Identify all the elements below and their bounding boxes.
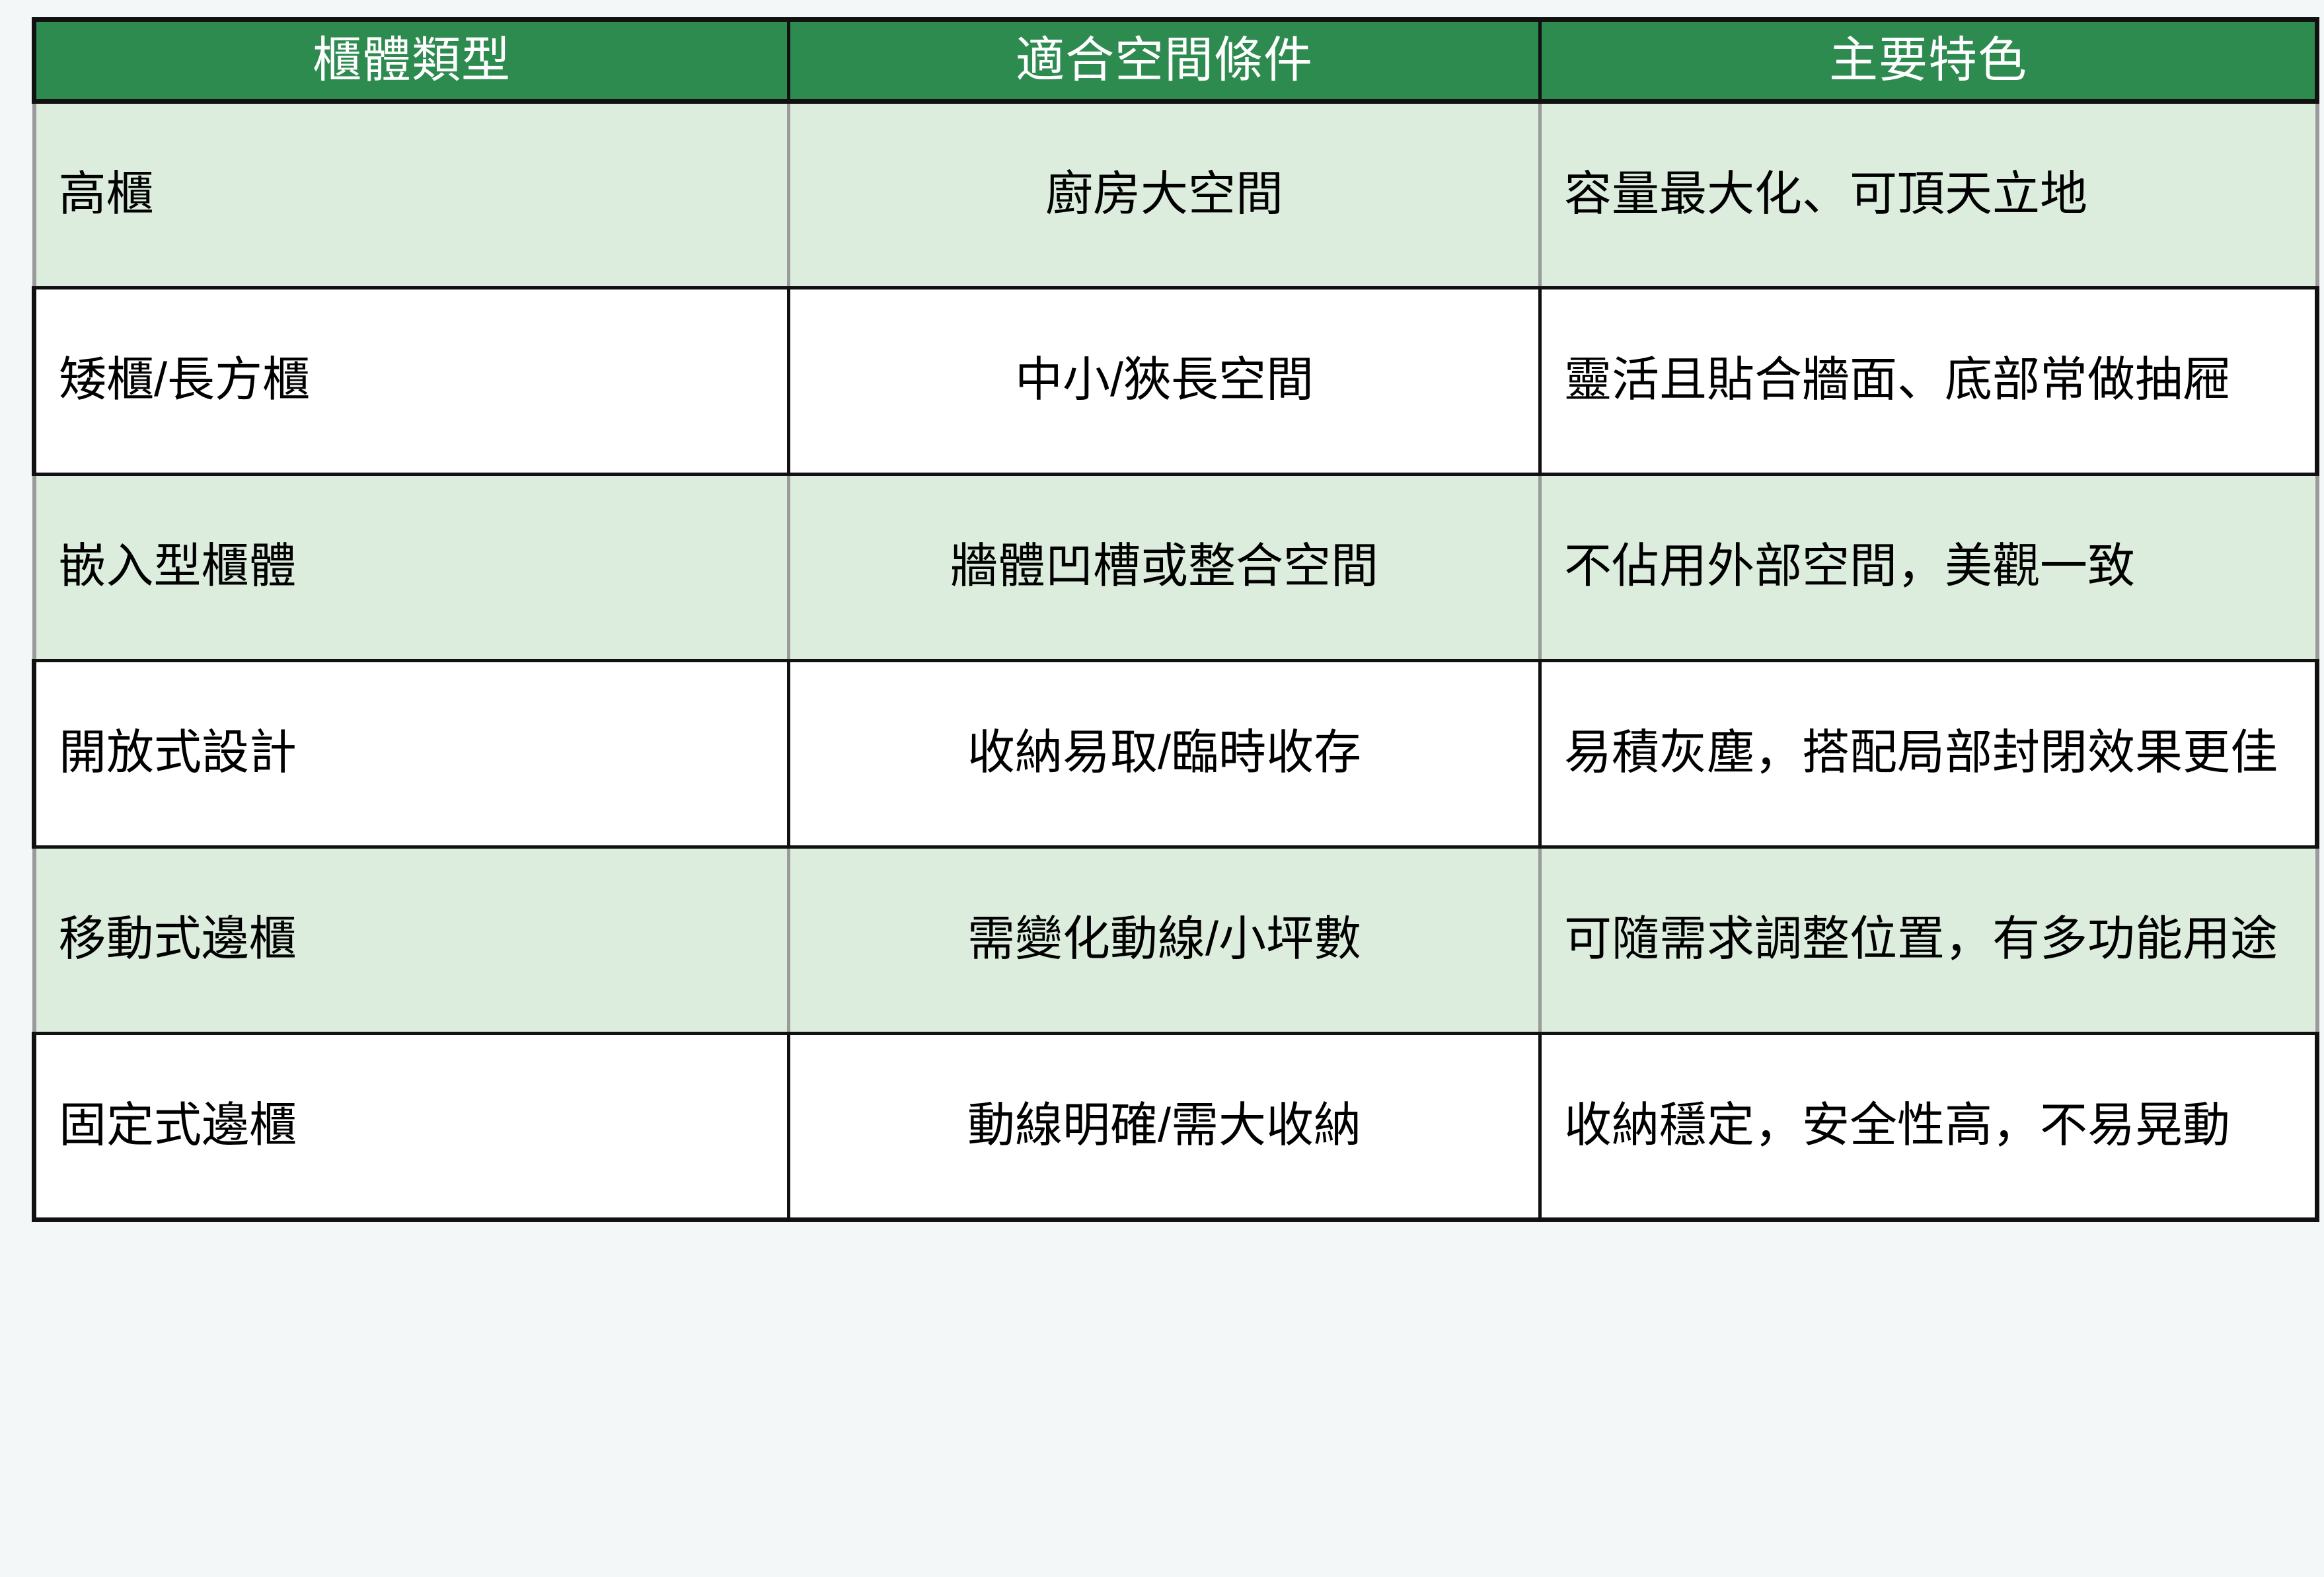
column-header-cabinet-type: 櫃體類型 xyxy=(34,20,789,102)
table-row: 開放式設計 收納易取/臨時收存 易積灰塵，搭配局部封閉效果更佳 xyxy=(34,660,2317,847)
table-header-row: 櫃體類型 適合空間條件 主要特色 xyxy=(34,20,2317,102)
cell-main-feature: 可隨需求調整位置，有多功能用途 xyxy=(1540,847,2317,1033)
cell-suitable-space: 需變化動線/小坪數 xyxy=(789,847,1540,1033)
cell-suitable-space: 廚房大空間 xyxy=(789,101,1540,288)
cell-main-feature: 靈活且貼合牆面、底部常做抽屜 xyxy=(1540,288,2317,474)
cell-cabinet-type: 矮櫃/長方櫃 xyxy=(34,288,789,474)
cell-cabinet-type: 固定式邊櫃 xyxy=(34,1033,789,1219)
page-root: 櫃體類型 適合空間條件 主要特色 高櫃 廚房大空間 容量最大化、可頂天立地 矮櫃… xyxy=(0,0,2324,1577)
table-header: 櫃體類型 適合空間條件 主要特色 xyxy=(34,20,2317,102)
table-row: 高櫃 廚房大空間 容量最大化、可頂天立地 xyxy=(34,101,2317,288)
cell-main-feature: 不佔用外部空間，美觀一致 xyxy=(1540,474,2317,660)
cell-suitable-space: 中小/狹長空間 xyxy=(789,288,1540,474)
cell-suitable-space: 牆體凹槽或整合空間 xyxy=(789,474,1540,660)
cabinet-comparison-table: 櫃體類型 適合空間條件 主要特色 高櫃 廚房大空間 容量最大化、可頂天立地 矮櫃… xyxy=(32,17,2319,1222)
cell-suitable-space: 收納易取/臨時收存 xyxy=(789,660,1540,847)
table-row: 嵌入型櫃體 牆體凹槽或整合空間 不佔用外部空間，美觀一致 xyxy=(34,474,2317,660)
column-header-suitable-space: 適合空間條件 xyxy=(789,20,1540,102)
table-container: 櫃體類型 適合空間條件 主要特色 高櫃 廚房大空間 容量最大化、可頂天立地 矮櫃… xyxy=(32,17,2315,1222)
table-row: 矮櫃/長方櫃 中小/狹長空間 靈活且貼合牆面、底部常做抽屜 xyxy=(34,288,2317,474)
table-row: 固定式邊櫃 動線明確/需大收納 收納穩定，安全性高，不易晃動 xyxy=(34,1033,2317,1219)
cell-main-feature: 易積灰塵，搭配局部封閉效果更佳 xyxy=(1540,660,2317,847)
cell-main-feature: 容量最大化、可頂天立地 xyxy=(1540,101,2317,288)
cell-main-feature: 收納穩定，安全性高，不易晃動 xyxy=(1540,1033,2317,1219)
table-body: 高櫃 廚房大空間 容量最大化、可頂天立地 矮櫃/長方櫃 中小/狹長空間 靈活且貼… xyxy=(34,101,2317,1219)
cell-suitable-space: 動線明確/需大收納 xyxy=(789,1033,1540,1219)
column-header-main-feature: 主要特色 xyxy=(1540,20,2317,102)
cell-cabinet-type: 高櫃 xyxy=(34,101,789,288)
table-row: 移動式邊櫃 需變化動線/小坪數 可隨需求調整位置，有多功能用途 xyxy=(34,847,2317,1033)
cell-cabinet-type: 移動式邊櫃 xyxy=(34,847,789,1033)
cell-cabinet-type: 嵌入型櫃體 xyxy=(34,474,789,660)
cell-cabinet-type: 開放式設計 xyxy=(34,660,789,847)
